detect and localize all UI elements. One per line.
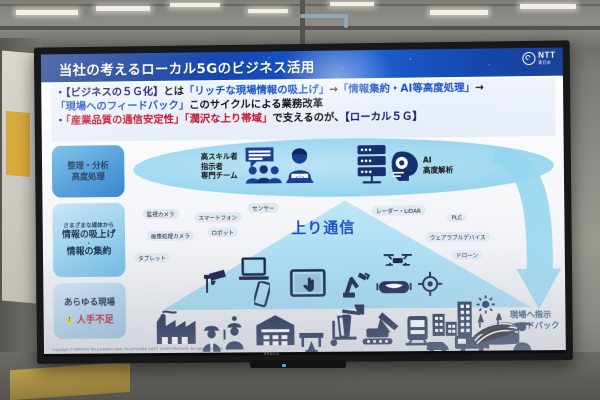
page-title: 当社の考えるローカル5Gのビジネス活用 — [59, 56, 315, 79]
pill-drone: ドローン — [451, 249, 483, 260]
ai-label-line2: 高度解析 — [423, 165, 454, 175]
display-screen: 当社の考えるローカル5Gのビジネス活用 NTT 東日本 ・【ビジネスの５Ｇ化】と… — [34, 40, 573, 364]
operator-laptop-icon: </> — [284, 147, 314, 185]
logo-text-east: 東日本 — [538, 61, 556, 65]
tv-brand-label: BRAVIA — [264, 352, 279, 356]
photograph-of-display: 当社の考えるローカル5Gのビジネス活用 NTT 東日本 ・【ビジネスの５Ｇ化】と… — [0, 0, 600, 400]
ar-goggles-icon — [376, 278, 412, 296]
people-group-icon — [246, 165, 282, 183]
high-skill-team-label: 高スキル者 指示者 専門チーム — [201, 152, 238, 181]
analyze-line1: 整理・分析 — [67, 160, 109, 172]
slide-title-bar: 当社の考えるローカル5Gのビジネス活用 NTT 東日本 — [41, 47, 563, 82]
road-barrier-icon — [298, 329, 326, 353]
labor-shortage-text: 人手不足 — [76, 311, 113, 325]
analysis-zone-ellipse — [133, 136, 554, 199]
server-stack-icon — [356, 144, 387, 186]
car-icon — [425, 338, 451, 352]
team-label-line3: 専門チーム — [201, 171, 238, 181]
robot-arm-icon — [342, 270, 370, 298]
ntt-logo: NTT 東日本 — [522, 52, 556, 66]
warehouse-icon — [254, 313, 296, 347]
ai-head-icon — [389, 150, 421, 182]
sun-icon — [477, 295, 495, 313]
pill-tablet: タブレット — [133, 252, 171, 263]
wall-panel — [2, 51, 36, 304]
sidebar-item-analyze[interactable]: 整理・分析 高度処理 — [52, 145, 125, 198]
ai-label-line1: AI — [423, 155, 454, 165]
smartphone-icon — [254, 281, 270, 307]
collect-line1: 情報の吸上げ — [62, 230, 116, 242]
pill-image-processing-camera: 画像処理カメラ — [146, 230, 195, 241]
farmer-icon — [509, 317, 536, 351]
pill-smartphone: スマートフォン — [193, 212, 242, 223]
tv-power-led — [282, 364, 286, 367]
ntt-swirl-icon — [522, 52, 535, 65]
ai-analysis-label: AI 高度解析 — [423, 155, 454, 175]
pill-robot: ロボット — [206, 227, 238, 238]
diagram-area: 現場へ指示 フィードバック 整理・分析 高度処理 さまざまな媒体から 情報の吸上… — [42, 136, 566, 340]
sidebar-item-field[interactable]: あらゆる現場 人手不足 — [53, 283, 126, 339]
pill-wearable-device: ウェアラブルデバイス — [425, 231, 491, 243]
warning-triangle-icon — [66, 314, 74, 322]
collect-line2: 情報の集約 — [67, 246, 112, 258]
slide-body-text: ・【ビジネスの５Ｇ化】とは「リッチな現場情報の吸上げ」→「情報集約・AI等高度処… — [51, 78, 555, 142]
team-label-line2: 指示者 — [201, 161, 238, 171]
factory-icon — [155, 310, 201, 348]
surveillance-camera-icon — [202, 268, 228, 294]
sidebar-item-collect[interactable]: さまざまな媒体から 情報の吸上げ ・ 情報の集約 — [52, 203, 125, 277]
inspector-icon — [222, 315, 246, 349]
logo-text-ntt: NTT — [538, 52, 556, 60]
uplink-text: 上り通信 — [291, 216, 355, 238]
pill-radar-lidar: レーダー・LiDAR — [371, 205, 426, 217]
presentation-slide: 当社の考えるローカル5Gのビジネス活用 NTT 東日本 ・【ビジネスの５Ｇ化】と… — [41, 47, 566, 353]
laptop-icon — [238, 257, 270, 283]
team-label-line1: 高スキル者 — [201, 152, 238, 162]
lidar-target-icon — [418, 272, 442, 296]
tv-stand-foot — [250, 360, 346, 368]
drone-icon — [382, 250, 414, 270]
pill-sensor: センサー — [247, 202, 279, 213]
pill-plc: PLC — [446, 213, 467, 222]
excavator-icon — [360, 310, 402, 346]
field-line1: あらゆる現場 — [64, 296, 115, 308]
copyright-text: Copyright © NIPPON TELEGRAPH AND TELEPHO… — [52, 347, 224, 352]
analyze-line2: 高度処理 — [72, 171, 105, 183]
tablet-touch-icon — [290, 269, 326, 299]
screen-surface: 当社の考えるローカル5Gのビジネス活用 NTT 東日本 ・【ビジネスの５Ｇ化】と… — [41, 47, 566, 353]
pill-surveillance-camera: 監視カメラ — [142, 208, 180, 219]
